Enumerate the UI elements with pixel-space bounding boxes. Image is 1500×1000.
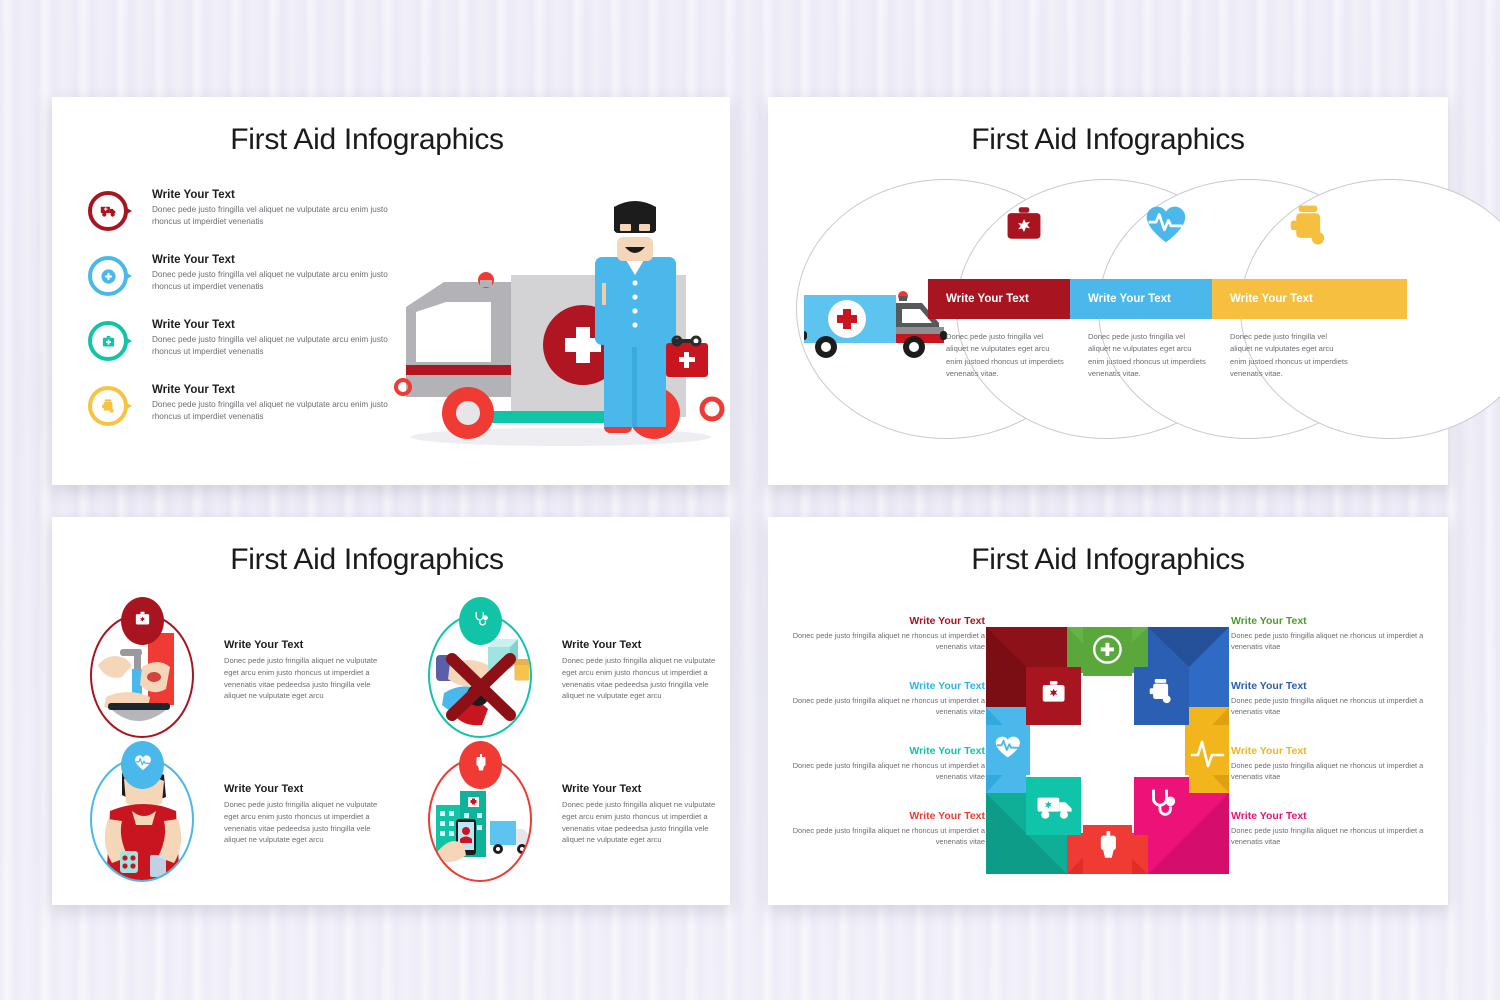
slide-4-right-column: Write Your Text Donec pede justo fringil… — [1231, 615, 1426, 875]
step-heading: Write Your Text — [1088, 293, 1171, 305]
list-item[interactable]: Write Your Text Donec pede justo fringil… — [88, 384, 408, 449]
card[interactable]: Write Your Text Donec pede justo fringil… — [428, 613, 728, 748]
card[interactable]: Write Your Text Donec pede justo fringil… — [428, 757, 728, 892]
step-heading: Write Your Text — [1230, 293, 1313, 305]
pin-marker[interactable] — [88, 256, 128, 296]
card-body: Donec pede justo fringilla aliquet ne vu… — [224, 799, 392, 846]
card-body: Donec pede justo fringilla aliquet ne vu… — [562, 799, 730, 846]
slide-4-left-column: Write Your Text Donec pede justo fringil… — [790, 615, 985, 875]
stethoscope-icon — [472, 610, 489, 632]
card[interactable]: Write Your Text Donec pede justo fringil… — [90, 613, 390, 748]
medicine-bottle-icon — [1228, 203, 1388, 251]
card-badge — [121, 741, 164, 789]
list-item-heading: Write Your Text — [152, 319, 402, 331]
block-heading: Write Your Text — [1231, 680, 1426, 692]
card-heading: Write Your Text — [562, 783, 730, 795]
slide-4[interactable]: First Aid Infographics Write Your Text D… — [768, 517, 1448, 905]
slide-2-title: First Aid Infographics — [768, 123, 1448, 157]
slide-2-stage: Write Your Text Donec pede justo fringil… — [796, 179, 1420, 444]
iv-drip-icon — [474, 754, 488, 777]
step-body: Donec pede justo fringilla vel aliquet n… — [1088, 331, 1206, 380]
text-block[interactable]: Write Your Text Donec pede justo fringil… — [1231, 745, 1426, 792]
slide-3[interactable]: First Aid Infographics Write Your T — [52, 517, 730, 905]
cross-segment-diagram[interactable] — [986, 627, 1229, 874]
block-body: Donec pede justo fringilla aliquet ne rh… — [790, 825, 985, 847]
medical-cross-circle-icon — [88, 256, 128, 296]
block-body: Donec pede justo fringilla aliquet ne rh… — [790, 695, 985, 717]
block-body: Donec pede justo fringilla aliquet ne rh… — [1231, 825, 1426, 847]
block-body: Donec pede justo fringilla aliquet ne rh… — [1231, 695, 1426, 717]
card-badge — [459, 741, 502, 789]
step-body: Donec pede justo fringilla vel aliquet n… — [946, 331, 1064, 380]
block-heading: Write Your Text — [790, 810, 985, 822]
list-item-text: Write Your Text Donec pede justo fringil… — [152, 319, 402, 358]
text-block[interactable]: Write Your Text Donec pede justo fringil… — [1231, 615, 1426, 662]
list-item-body: Donec pede justo fringilla vel aliquet n… — [152, 269, 402, 293]
card[interactable]: Write Your Text Donec pede justo fringil… — [90, 757, 390, 892]
list-item-body: Donec pede justo fringilla vel aliquet n… — [152, 204, 402, 228]
heartbeat-icon — [134, 754, 152, 776]
card-body: Donec pede justo fringilla aliquet ne vu… — [224, 655, 392, 702]
list-item[interactable]: Write Your Text Donec pede justo fringil… — [88, 189, 408, 254]
list-item-body: Donec pede justo fringilla vel aliquet n… — [152, 399, 402, 423]
card-badge — [459, 597, 502, 645]
block-heading: Write Your Text — [790, 680, 985, 692]
slide-4-title: First Aid Infographics — [768, 543, 1448, 577]
card-body: Donec pede justo fringilla aliquet ne vu… — [562, 655, 730, 702]
text-block[interactable]: Write Your Text Donec pede justo fringil… — [790, 745, 985, 792]
step-column[interactable]: Write Your Text Donec pede justo fringil… — [1228, 179, 1388, 439]
block-body: Donec pede justo fringilla aliquet ne rh… — [790, 630, 985, 652]
heartbeat-icon — [1086, 203, 1246, 251]
block-heading: Write Your Text — [1231, 810, 1426, 822]
block-heading: Write Your Text — [790, 615, 985, 627]
list-item[interactable]: Write Your Text Donec pede justo fringil… — [88, 319, 408, 384]
step-heading: Write Your Text — [946, 293, 1029, 305]
first-aid-kit-icon — [88, 321, 128, 361]
list-item-body: Donec pede justo fringilla vel aliquet n… — [152, 334, 402, 358]
text-block[interactable]: Write Your Text Donec pede justo fringil… — [1231, 810, 1426, 857]
list-item-heading: Write Your Text — [152, 384, 402, 396]
slide-2[interactable]: First Aid Infographics — [768, 97, 1448, 485]
text-block[interactable]: Write Your Text Donec pede justo fringil… — [790, 680, 985, 727]
list-item-heading: Write Your Text — [152, 254, 402, 266]
doctor-with-ambulance-illustration — [376, 197, 736, 457]
list-item-text: Write Your Text Donec pede justo fringil… — [152, 254, 402, 293]
text-block[interactable]: Write Your Text Donec pede justo fringil… — [1231, 680, 1426, 727]
text-block[interactable]: Write Your Text Donec pede justo fringil… — [790, 810, 985, 857]
block-body: Donec pede justo fringilla aliquet ne rh… — [1231, 760, 1426, 782]
slide-3-title: First Aid Infographics — [52, 543, 730, 577]
card-heading: Write Your Text — [224, 783, 392, 795]
pin-marker[interactable] — [88, 386, 128, 426]
text-block[interactable]: Write Your Text Donec pede justo fringil… — [790, 615, 985, 662]
list-item-heading: Write Your Text — [152, 189, 402, 201]
block-heading: Write Your Text — [1231, 615, 1426, 627]
block-heading: Write Your Text — [790, 745, 985, 757]
block-body: Donec pede justo fringilla aliquet ne rh… — [790, 760, 985, 782]
ambulance-icon — [88, 191, 128, 231]
medicine-bottle-icon — [88, 386, 128, 426]
list-item-text: Write Your Text Donec pede justo fringil… — [152, 189, 402, 228]
card-heading: Write Your Text — [562, 639, 730, 651]
list-item[interactable]: Write Your Text Donec pede justo fringil… — [88, 254, 408, 319]
step-body: Donec pede justo fringilla vel aliquet n… — [1230, 331, 1348, 380]
card-text: Write Your Text Donec pede justo fringil… — [224, 639, 392, 702]
slide-1-item-list: Write Your Text Donec pede justo fringil… — [88, 189, 408, 449]
card-badge — [121, 597, 164, 645]
block-heading: Write Your Text — [1231, 745, 1426, 757]
pin-marker[interactable] — [88, 321, 128, 361]
pin-marker[interactable] — [88, 191, 128, 231]
list-item-text: Write Your Text Donec pede justo fringil… — [152, 384, 402, 423]
step-heading-bar[interactable]: Write Your Text — [1212, 279, 1407, 319]
card-text: Write Your Text Donec pede justo fringil… — [562, 783, 730, 846]
card-text: Write Your Text Donec pede justo fringil… — [224, 783, 392, 846]
block-body: Donec pede justo fringilla aliquet ne rh… — [1231, 630, 1426, 652]
slide-1-title: First Aid Infographics — [52, 123, 730, 157]
card-heading: Write Your Text — [224, 639, 392, 651]
first-aid-kit-icon — [134, 610, 151, 632]
card-text: Write Your Text Donec pede justo fringil… — [562, 639, 730, 702]
first-aid-kit-icon — [944, 203, 1104, 251]
slide-1[interactable]: First Aid Infographics Write Your Text D… — [52, 97, 730, 485]
